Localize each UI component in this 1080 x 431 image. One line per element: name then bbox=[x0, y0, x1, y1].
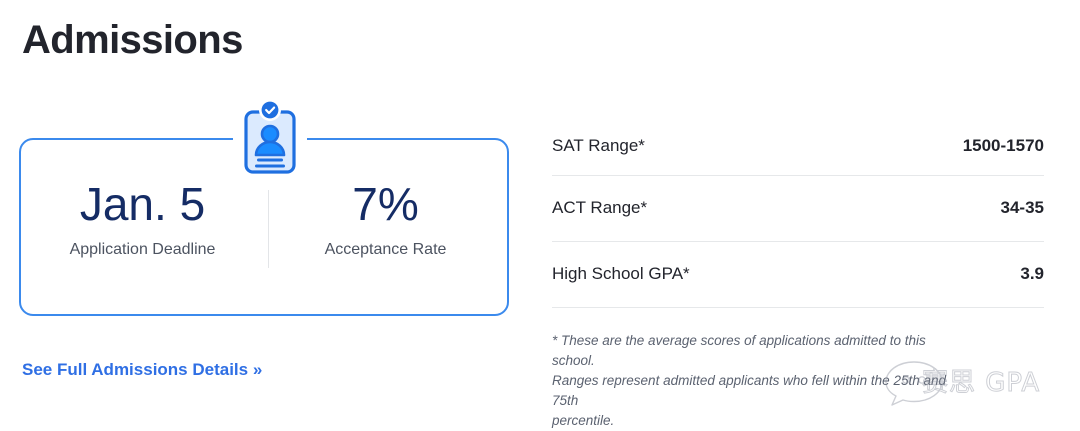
footnote-line-2: Ranges represent admitted applicants who… bbox=[552, 371, 972, 411]
spec-row-sat-range: SAT Range* 1500-1570 bbox=[552, 118, 1044, 176]
admissions-specs-panel: SAT Range* 1500-1570 ACT Range* 34-35 Hi… bbox=[552, 118, 1044, 431]
spec-value-act-range: 34-35 bbox=[1001, 198, 1044, 218]
specs-footnote: * These are the average scores of applic… bbox=[552, 331, 972, 431]
stat-application-deadline: Jan. 5 Application Deadline bbox=[21, 140, 264, 259]
footnote-line-3: percentile. bbox=[552, 411, 972, 431]
stat-acceptance-rate: 7% Acceptance Rate bbox=[264, 140, 507, 259]
stat-label-acceptance: Acceptance Rate bbox=[264, 240, 507, 259]
see-full-admissions-details-link[interactable]: See Full Admissions Details » bbox=[22, 360, 262, 380]
stat-label-deadline: Application Deadline bbox=[21, 240, 264, 259]
stat-value-acceptance: 7% bbox=[264, 180, 507, 228]
spec-value-sat-range: 1500-1570 bbox=[963, 136, 1044, 156]
spec-label-sat-range: SAT Range* bbox=[552, 136, 645, 156]
stat-divider bbox=[268, 190, 269, 268]
footnote-line-1: * These are the average scores of applic… bbox=[552, 331, 972, 371]
admissions-summary-column: Jan. 5 Application Deadline 7% Acceptanc… bbox=[0, 0, 540, 426]
stat-value-deadline: Jan. 5 bbox=[21, 180, 264, 228]
spec-label-high-school-gpa: High School GPA* bbox=[552, 264, 690, 284]
spec-label-act-range: ACT Range* bbox=[552, 198, 647, 218]
spec-value-high-school-gpa: 3.9 bbox=[1020, 264, 1044, 284]
spec-row-high-school-gpa: High School GPA* 3.9 bbox=[552, 242, 1044, 308]
admissions-badge-icon bbox=[242, 98, 298, 176]
spec-row-act-range: ACT Range* 34-35 bbox=[552, 176, 1044, 242]
